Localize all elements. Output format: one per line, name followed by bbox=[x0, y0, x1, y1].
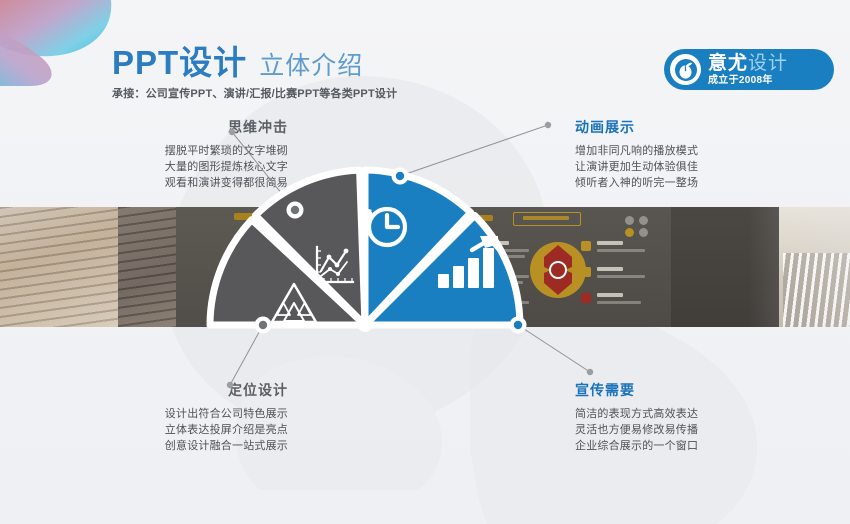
callout-line: 企业综合展示的一个窗口 bbox=[575, 438, 805, 454]
endpoint-bottom-right bbox=[587, 369, 593, 375]
page-title: PPT设计 立体介绍 bbox=[112, 46, 363, 79]
title-main: PPT设计 bbox=[112, 46, 247, 79]
callout-thinking-impact: 思维冲击 摆脱平时繁琐的文字堆砌 大量的图形提炼核心文字 观看和演讲变得都很简易 bbox=[58, 120, 288, 191]
callout-title: 宣传需要 bbox=[575, 383, 805, 397]
leader-line-bottom-left bbox=[230, 325, 263, 385]
title-subtitle: 立体介绍 bbox=[259, 54, 363, 79]
brand-name-light: 设计 bbox=[748, 53, 788, 74]
callout-promotion-need: 宣传需要 简洁的表现方式高效表达 灵活也方便易修改易传播 企业综合展示的一个窗口 bbox=[575, 383, 805, 454]
callout-line: 立体表达投屏介绍是亮点 bbox=[58, 422, 288, 438]
title-description: 承接：公司宣传PPT、演讲/汇报/比赛PPT等各类PPT设计 bbox=[112, 85, 397, 101]
mouse-circle-icon bbox=[670, 54, 701, 85]
brand-logo-badge[interactable]: 意尤设计 成立于2008年 bbox=[664, 49, 834, 90]
brand-logo-text: 意尤设计 成立于2008年 bbox=[708, 54, 788, 86]
leader-line-top-right bbox=[400, 125, 548, 176]
callout-positioning-design: 定位设计 设计出符合公司特色展示 立体表达投屏介绍是亮点 创意设计融合一站式展示 bbox=[58, 383, 288, 454]
callout-line: 摆脱平时繁琐的文字堆砌 bbox=[58, 143, 288, 159]
callout-line: 创意设计融合一站式展示 bbox=[58, 438, 288, 454]
slide-canvas: PPT设计 立体介绍 承接：公司宣传PPT、演讲/汇报/比赛PPT等各类PPT设… bbox=[0, 0, 850, 524]
callout-line: 观看和演讲变得都很简易 bbox=[58, 175, 288, 191]
callout-line: 设计出符合公司特色展示 bbox=[58, 406, 288, 422]
callout-title: 动画展示 bbox=[575, 120, 805, 134]
callout-line: 让演讲更加生动体验俱佳 bbox=[575, 159, 805, 175]
callout-line: 简洁的表现方式高效表达 bbox=[575, 406, 805, 422]
brand-name-bold: 意尤 bbox=[708, 53, 748, 74]
callout-title: 思维冲击 bbox=[58, 120, 288, 134]
callout-animation-display: 动画展示 增加非同凡响的播放模式 让演讲更加生动体验俱佳 倾听者入神的听完一整场 bbox=[575, 120, 805, 191]
callout-line: 增加非同凡响的播放模式 bbox=[575, 143, 805, 159]
leader-line-bottom-right bbox=[518, 325, 590, 372]
endpoint-top-right bbox=[545, 122, 551, 128]
callout-title: 定位设计 bbox=[58, 383, 288, 397]
callout-line: 灵活也方便易修改易传播 bbox=[575, 422, 805, 438]
callout-line: 大量的图形提炼核心文字 bbox=[58, 159, 288, 175]
callout-line: 倾听者入神的听完一整场 bbox=[575, 175, 805, 191]
brand-since-label: 成立于2008年 bbox=[708, 76, 788, 86]
